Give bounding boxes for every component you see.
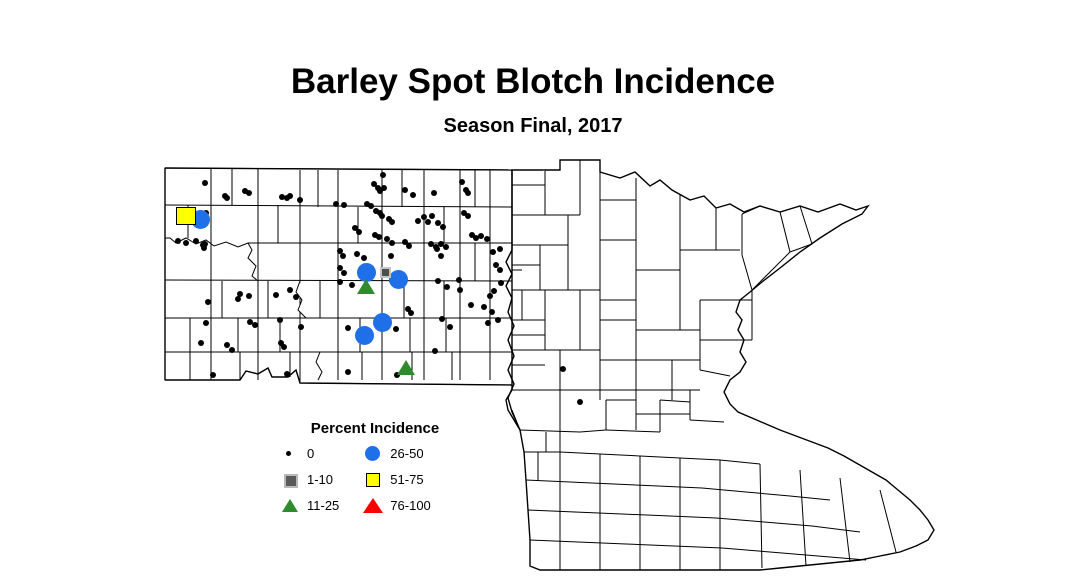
map-marker-0 — [356, 229, 362, 235]
gray-square-marker-icon — [280, 472, 300, 487]
map-marker-1-10 — [380, 267, 391, 278]
map-marker-0 — [435, 278, 441, 284]
map-marker-0 — [484, 236, 490, 242]
map-marker-0 — [273, 292, 279, 298]
map-marker-0 — [408, 310, 414, 316]
map-marker-0 — [341, 270, 347, 276]
map-marker-0 — [465, 213, 471, 219]
map-marker-0 — [210, 372, 216, 378]
map-marker-0 — [284, 371, 290, 377]
minnesota-counties — [506, 160, 934, 570]
legend-item-1-10[interactable]: 1-10 — [280, 472, 339, 487]
map-marker-0 — [202, 180, 208, 186]
map-marker-11-25 — [357, 279, 375, 294]
dot-marker-icon — [280, 446, 300, 461]
map-marker-0 — [224, 195, 230, 201]
map-marker-0 — [354, 251, 360, 257]
map-marker-0 — [203, 320, 209, 326]
map-marker-0 — [376, 234, 382, 240]
legend-item-label: 0 — [307, 446, 314, 461]
map-marker-0 — [287, 287, 293, 293]
map-marker-0 — [205, 299, 211, 305]
legend-item-label: 11-25 — [307, 498, 339, 513]
map-marker-0 — [495, 317, 501, 323]
map-marker-0 — [444, 284, 450, 290]
map-marker-0 — [393, 326, 399, 332]
map-marker-11-25 — [397, 360, 415, 375]
legend-item-51-75[interactable]: 51-75 — [363, 472, 430, 487]
map-marker-0 — [198, 340, 204, 346]
map-marker-0 — [481, 304, 487, 310]
map-marker-0 — [447, 324, 453, 330]
map-marker-0 — [340, 253, 346, 259]
map-marker-0 — [389, 240, 395, 246]
map-marker-0 — [252, 322, 258, 328]
map-marker-0 — [235, 296, 241, 302]
legend-item-0[interactable]: 0 — [280, 446, 339, 461]
map-marker-0 — [577, 399, 583, 405]
map-marker-0 — [281, 344, 287, 350]
map-marker-0 — [497, 246, 503, 252]
map-marker-0 — [293, 294, 299, 300]
map-marker-0 — [402, 187, 408, 193]
map-marker-0 — [440, 224, 446, 230]
legend-item-11-25[interactable]: 11-25 — [280, 498, 339, 513]
map-marker-0 — [337, 279, 343, 285]
map-marker-0 — [443, 244, 449, 250]
map-marker-51-75 — [176, 207, 196, 225]
green-triangle-marker-icon — [280, 498, 300, 513]
map-marker-0 — [468, 302, 474, 308]
legend-columns: 01-1011-25 26-5051-7576-100 — [280, 446, 470, 513]
map-marker-0 — [175, 238, 181, 244]
yellow-square-marker-icon — [363, 472, 383, 487]
map-marker-0 — [277, 317, 283, 323]
map-marker-0 — [439, 316, 445, 322]
map-marker-0 — [380, 172, 386, 178]
map-marker-0 — [287, 193, 293, 199]
map-marker-0 — [345, 369, 351, 375]
map-marker-0 — [246, 293, 252, 299]
map-marker-0 — [429, 213, 435, 219]
chart-page: Barley Spot Blotch Incidence Season Fina… — [0, 0, 1066, 587]
map-marker-0 — [457, 287, 463, 293]
map-container — [0, 0, 1066, 587]
map-marker-0 — [497, 267, 503, 273]
legend-item-label: 26-50 — [390, 446, 423, 461]
legend-column-right: 26-5051-7576-100 — [363, 446, 430, 513]
map-marker-0 — [490, 249, 496, 255]
map-marker-0 — [425, 219, 431, 225]
map-marker-0 — [201, 245, 207, 251]
map-marker-0 — [485, 320, 491, 326]
map-marker-0 — [361, 255, 367, 261]
map-marker-0 — [345, 325, 351, 331]
map-marker-0 — [379, 213, 385, 219]
map-marker-0 — [456, 277, 462, 283]
map-marker-0 — [246, 190, 252, 196]
map-marker-0 — [389, 219, 395, 225]
map-marker-0 — [406, 243, 412, 249]
red-triangle-marker-icon — [363, 498, 383, 513]
map-marker-0 — [432, 348, 438, 354]
map-marker-0 — [333, 201, 339, 207]
legend-column-left: 01-1011-25 — [280, 446, 339, 513]
state-county-map — [0, 0, 1066, 587]
map-marker-0 — [498, 280, 504, 286]
map-marker-26-50 — [373, 313, 392, 332]
map-marker-26-50 — [355, 326, 374, 345]
map-marker-0 — [229, 347, 235, 353]
legend-title: Percent Incidence — [280, 420, 470, 437]
map-marker-0 — [489, 309, 495, 315]
legend-item-label: 76-100 — [390, 498, 430, 513]
map-marker-0 — [431, 190, 437, 196]
map-marker-0 — [388, 253, 394, 259]
map-marker-0 — [410, 192, 416, 198]
map-marker-0 — [415, 218, 421, 224]
map-marker-0 — [349, 282, 355, 288]
map-marker-0 — [341, 202, 347, 208]
map-marker-0 — [560, 366, 566, 372]
legend-item-label: 51-75 — [390, 472, 423, 487]
legend-item-76-100[interactable]: 76-100 — [363, 498, 430, 513]
map-marker-0 — [487, 293, 493, 299]
legend-item-26-50[interactable]: 26-50 — [363, 446, 430, 461]
map-marker-0 — [465, 190, 471, 196]
map-marker-26-50 — [389, 270, 408, 289]
map-marker-0 — [434, 246, 440, 252]
legend-item-label: 1-10 — [307, 472, 333, 487]
map-marker-0 — [193, 238, 199, 244]
legend: Percent Incidence 01-1011-25 26-5051-757… — [280, 420, 470, 513]
blue-circle-marker-icon — [363, 446, 383, 461]
map-marker-0 — [438, 253, 444, 259]
map-marker-0 — [297, 197, 303, 203]
map-marker-0 — [459, 179, 465, 185]
map-marker-0 — [183, 240, 189, 246]
map-marker-0 — [381, 185, 387, 191]
map-marker-0 — [298, 324, 304, 330]
